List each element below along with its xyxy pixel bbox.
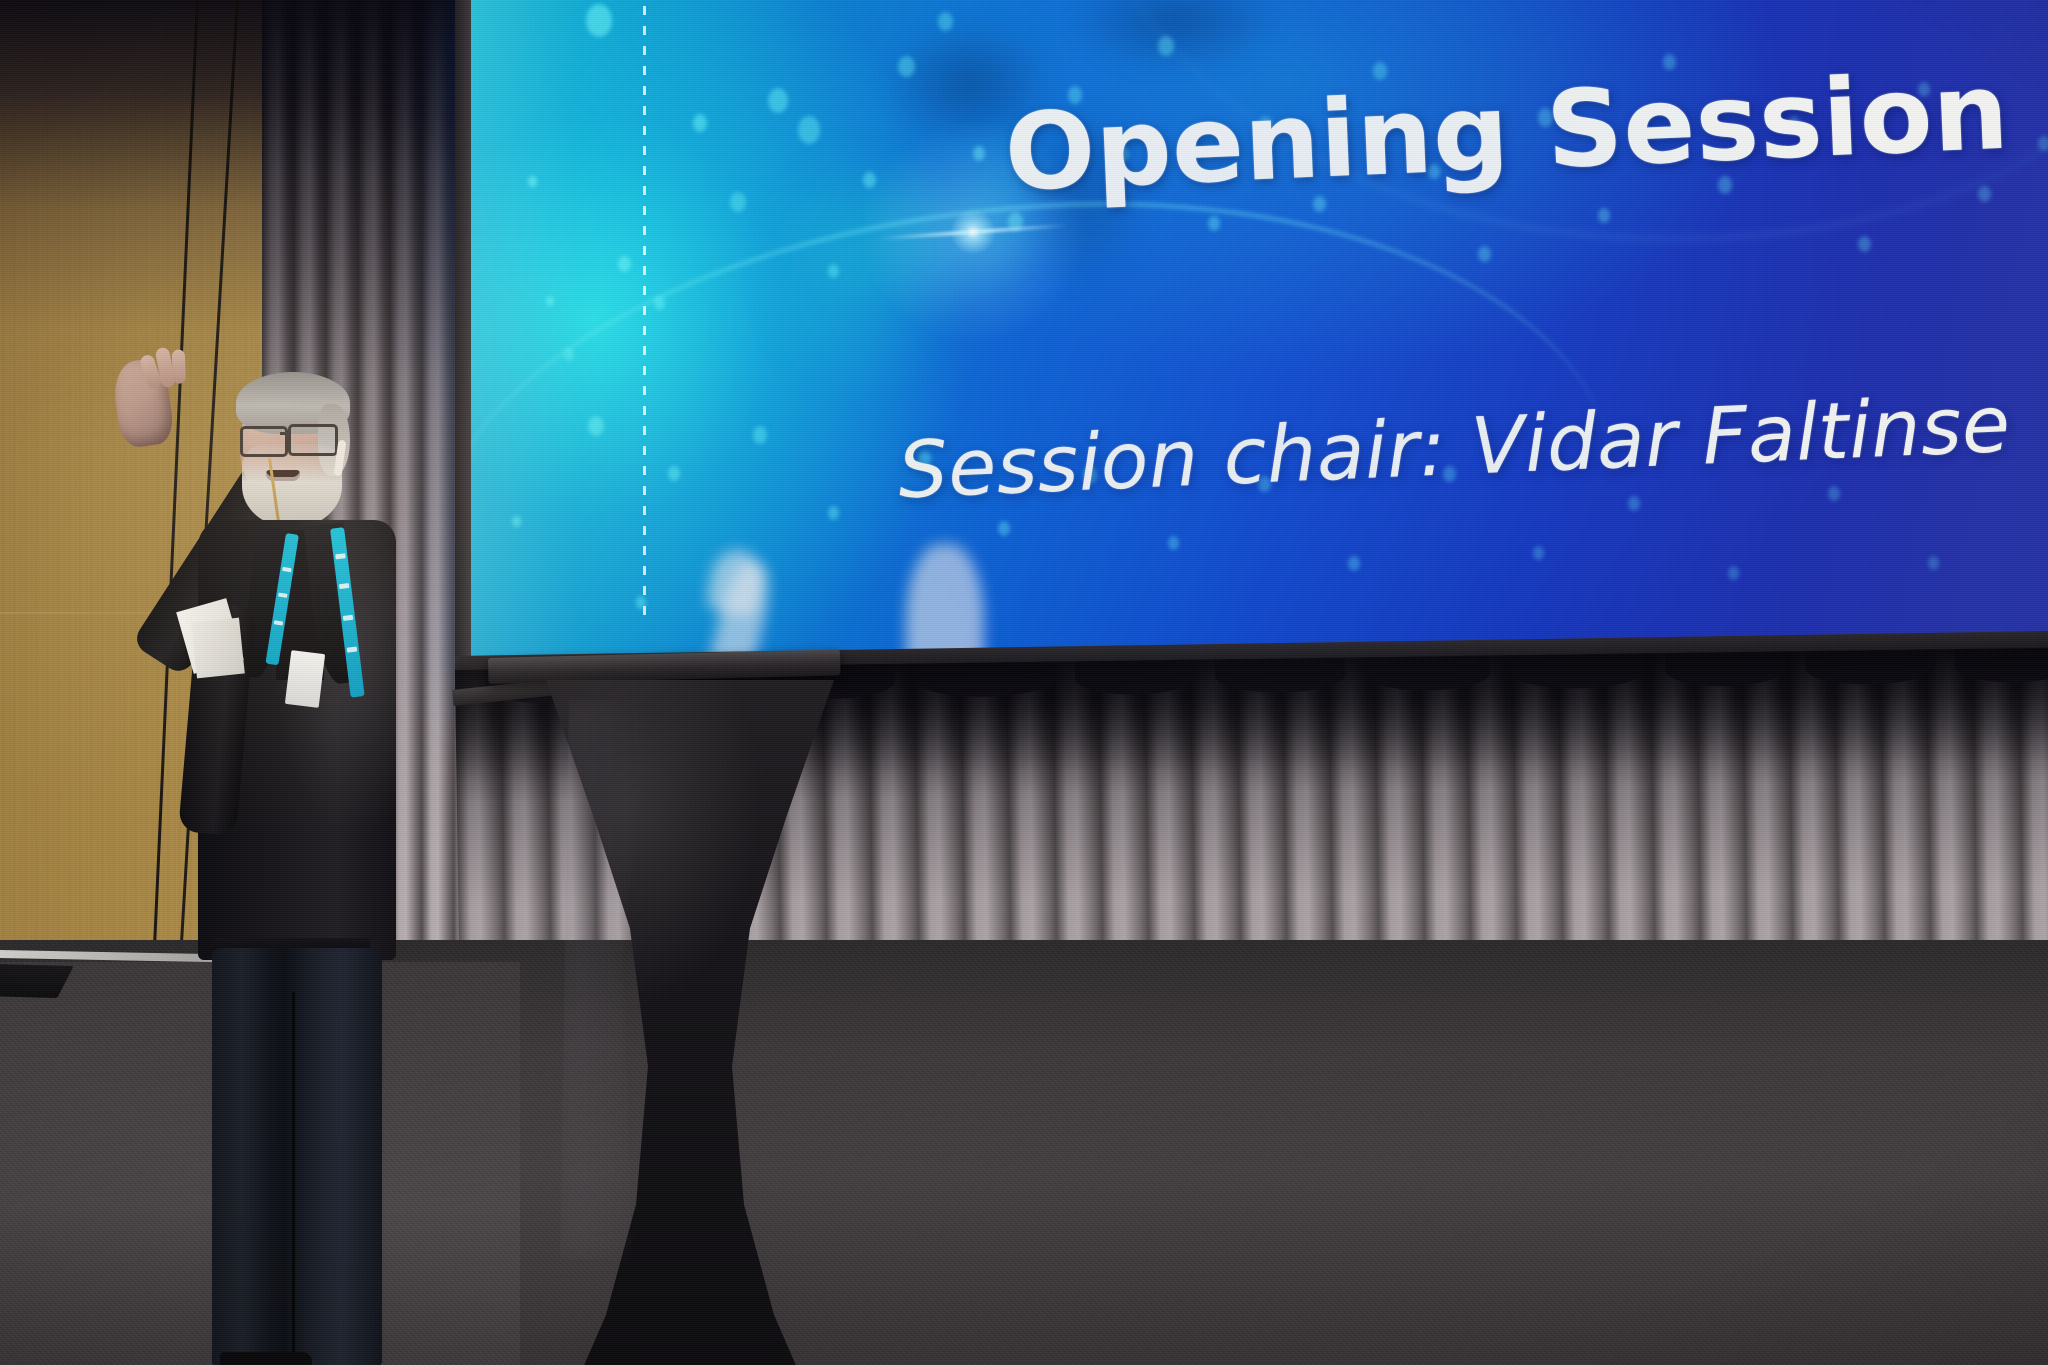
- screen-frame-left: [455, 0, 471, 702]
- lanyard-print: [343, 615, 354, 621]
- curtain-hem: [1805, 649, 1935, 685]
- screen-vignette: [468, 0, 2048, 696]
- lanyard-print: [339, 583, 350, 589]
- curtain-hem: [1665, 651, 1785, 687]
- speaker-finger: [172, 349, 186, 383]
- speaker-figure: [90, 352, 420, 1365]
- speaker-shoe: [220, 1352, 312, 1365]
- lanyard-print: [282, 567, 292, 572]
- curtain-hem: [915, 662, 1055, 698]
- conference-name-badge: [285, 650, 325, 708]
- curtain-hem: [1215, 658, 1345, 694]
- lanyard-print: [347, 646, 358, 652]
- speaker-jeans-seam: [292, 992, 295, 1365]
- projection-screen: Opening Session Session chair: Vidar Fal…: [468, 0, 2048, 696]
- curtain-hem: [1955, 647, 2048, 683]
- eyeglasses-left-lens-icon: [240, 426, 288, 457]
- eyeglasses-bridge-icon: [280, 432, 290, 435]
- stage-photo-scene: Opening Session Session chair: Vidar Fal…: [0, 0, 2048, 1365]
- curtain-hem: [1075, 660, 1195, 696]
- lanyard-print: [278, 593, 288, 598]
- speaker-note-cards-second: [191, 618, 245, 679]
- lanyard-print: [335, 553, 346, 559]
- curtain-hem: [1510, 653, 1645, 689]
- eyeglasses-right-lens-icon: [288, 424, 338, 456]
- speaker-jeans: [212, 948, 382, 1365]
- lanyard-print: [274, 620, 284, 625]
- speaker-waving-hand: [110, 357, 175, 450]
- curtain-hem: [1365, 656, 1490, 692]
